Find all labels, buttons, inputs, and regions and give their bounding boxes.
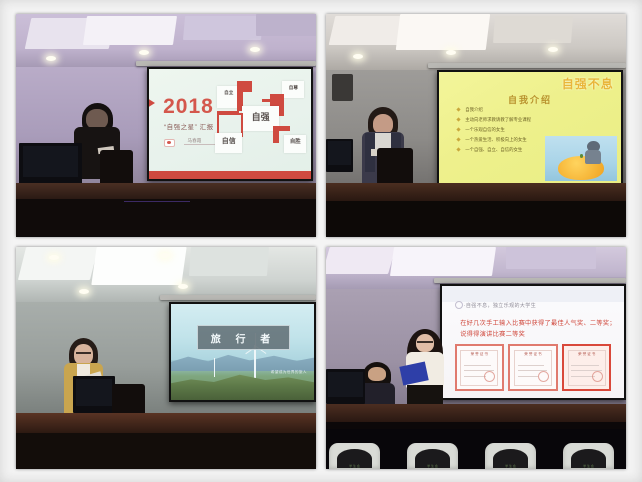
slide-arrow-icon [149, 98, 155, 108]
lecture-hall-scene-2: 自强不息 自我介绍 自我介绍 主动向老师求教请教了解专业课程 一个乐观自信的女生… [326, 14, 626, 237]
ceiling-coffer [189, 247, 269, 276]
screen-valance [136, 61, 316, 66]
podium-monitor [19, 143, 82, 185]
stage-front [16, 433, 316, 469]
slide-header: ·自强不息，独立乐观的大学生 [464, 302, 536, 309]
slide-corner-title: 自强不息 [562, 75, 614, 92]
audience-seat: 学 生 会 [563, 443, 614, 469]
slide-heading: 自我介绍 [508, 93, 552, 106]
ceiling-coffer [506, 247, 596, 269]
slide-block-label: 自信 [217, 138, 241, 145]
seat-cover-text: 学 生 会 [485, 464, 536, 468]
seat-cover-text: 学 生 会 [329, 464, 380, 468]
slide-top-band [442, 286, 624, 302]
presenter-head [74, 344, 93, 365]
screen-valance [434, 278, 626, 283]
photo-panel-bottom-left[interactable]: 旅 行 者 希望成为世界的旅人 [16, 247, 316, 470]
stage-front [16, 199, 316, 237]
slide-bullet-icon [164, 139, 175, 147]
presenter-glasses-icon [417, 341, 432, 343]
slide-bullet: 自我介绍 [457, 108, 603, 112]
slide-title-plate: 旅 行 者 [197, 325, 291, 350]
presenter-head [373, 114, 393, 133]
lecture-hall-scene-1: 2018 “自强之星” 汇报 马春霞 自立 自尊 [16, 14, 316, 237]
ceiling-coffer [493, 16, 573, 43]
ceiling-coffer [326, 247, 396, 274]
ceiling-coffer [91, 247, 186, 285]
slide-traveler: 旅 行 者 希望成为世界的旅人 [171, 304, 314, 400]
projector-screen-frame: ·自强不息，独立乐观的大学生 在好几次手工输入比赛中获得了最佳人气奖、二等奖； … [440, 284, 626, 400]
ceiling-coffer [183, 16, 263, 40]
wind-turbine-mast [214, 358, 215, 377]
slide-awards: ·自强不息，独立乐观的大学生 在好几次手工输入比赛中获得了最佳人气奖、二等奖； … [442, 286, 624, 398]
slide-title-2018: 2018 “自强之星” 汇报 马春霞 自立 自尊 [149, 69, 312, 178]
slide-bullet: 一个乐观自信的女生 [457, 128, 603, 132]
slide-credit: 希望成为世界的旅人 [271, 370, 307, 375]
slide-block-label: 自胜 [286, 140, 304, 145]
certificate-label: 荣 誉 证 书 [457, 352, 502, 357]
slide-line-1: 在好几次手工输入比赛中获得了最佳人气奖、二等奖； [460, 318, 616, 327]
projector-screen-frame: 自强不息 自我介绍 自我介绍 主动向老师求教请教了解专业课程 一个乐观自信的女生… [437, 70, 623, 186]
audience-seat: 学 生 会 [407, 443, 458, 469]
lecture-hall-scene-3: 旅 行 者 希望成为世界的旅人 [16, 247, 316, 470]
certificate-label: 荣 誉 证 书 [510, 352, 555, 357]
stage-chair [377, 148, 413, 188]
ceiling-coffer [390, 247, 496, 276]
slide-line-2: 说得得演讲比赛二等奖 [460, 329, 525, 338]
podium-monitor [326, 139, 353, 172]
projection-surface: 旅 行 者 希望成为世界的旅人 [171, 304, 314, 400]
certificate-label: 荣 誉 证 书 [564, 352, 609, 357]
certificate-item: 荣 誉 证 书 [508, 344, 557, 391]
stage-desk [326, 183, 626, 201]
slide-subtitle: “自强之星” 汇报 [164, 121, 214, 131]
slide-footer-bar [149, 171, 312, 179]
certificate-item: 荣 誉 证 书 [562, 344, 611, 391]
ceiling-downlight [79, 289, 89, 294]
podium-monitor [73, 376, 115, 414]
ceiling-downlight [446, 50, 456, 55]
slide-cartoon-image [545, 136, 618, 181]
seat-cover-text: 学 生 会 [563, 464, 614, 468]
collage-grid: 2018 “自强之星” 汇报 马春霞 自立 自尊 [16, 14, 626, 469]
audience-seat: 学 生 会 [329, 443, 380, 469]
presenter-glasses-icon [76, 352, 92, 354]
stage-highlight [124, 201, 190, 202]
slide-self-introduction: 自强不息 自我介绍 自我介绍 主动向老师求教请教了解专业课程 一个乐观自信的女生… [439, 72, 621, 184]
audience-seating: 学 生 会 学 生 会 学 生 会 学 生 会 [326, 429, 626, 469]
photo-panel-top-left[interactable]: 2018 “自强之星” 汇报 马春霞 自立 自尊 [16, 14, 316, 237]
projector-screen-frame: 旅 行 者 希望成为世界的旅人 [169, 302, 316, 402]
certificate-item: 荣 誉 证 书 [455, 344, 504, 391]
stage-front [326, 201, 626, 237]
presenter-head [86, 109, 107, 129]
ceiling-coffer [83, 16, 177, 45]
staff-head [368, 367, 385, 380]
seat-cover-text: 学 生 会 [407, 464, 458, 468]
stage-desk [16, 413, 316, 433]
slide-block-art: 自立 自尊 自强 [215, 78, 306, 161]
ceiling-coffer [256, 14, 316, 36]
podium-monitor [326, 369, 365, 405]
screen-valance [428, 63, 626, 68]
photo-collage: 2018 “自强之星” 汇报 马春霞 自立 自尊 [0, 0, 642, 482]
lecture-hall-scene-4: ·自强不息，独立乐观的大学生 在好几次手工输入比赛中获得了最佳人气奖、二等奖； … [326, 247, 626, 470]
screen-valance [160, 295, 316, 300]
cartoon-girl [585, 141, 601, 164]
projection-surface: ·自强不息，独立乐观的大学生 在好几次手工输入比赛中获得了最佳人气奖、二等奖； … [442, 286, 624, 398]
slide-bullet: 主动向老师求教请教了解专业课程 [457, 118, 603, 122]
audience-seat: 学 生 会 [485, 443, 536, 469]
photo-panel-bottom-right[interactable]: ·自强不息，独立乐观的大学生 在好几次手工输入比赛中获得了最佳人气奖、二等奖； … [326, 247, 626, 470]
ceiling-downlight [139, 50, 149, 55]
projection-surface: 2018 “自强之星” 汇报 马春霞 自立 自尊 [149, 69, 312, 178]
stage-chair [100, 150, 133, 188]
slide-title-text: 旅 行 者 [198, 330, 290, 345]
presenter-head [416, 334, 434, 353]
photo-panel-top-right[interactable]: 自强不息 自我介绍 自我介绍 主动向老师求教请教了解专业课程 一个乐观自信的女生… [326, 14, 626, 237]
slide-block-label: 自强 [245, 113, 276, 122]
slide-year: 2018 [163, 96, 214, 117]
stage-desk [326, 404, 626, 422]
wall-speaker [332, 74, 353, 101]
slide-block-label: 自立 [219, 91, 239, 96]
certificate-gallery: 荣 誉 证 书 荣 誉 证 书 [455, 344, 612, 391]
slide-block-label: 自尊 [285, 86, 301, 91]
stage-desk [16, 183, 316, 199]
projector-screen-frame: 2018 “自强之星” 汇报 马春霞 自立 自尊 [147, 67, 314, 180]
presenter-4 [404, 329, 446, 414]
ceiling-coffer [396, 14, 490, 50]
ceiling-coffer [18, 247, 98, 280]
projection-surface: 自强不息 自我介绍 自我介绍 主动向老师求教请教了解专业课程 一个乐观自信的女生… [439, 72, 621, 184]
